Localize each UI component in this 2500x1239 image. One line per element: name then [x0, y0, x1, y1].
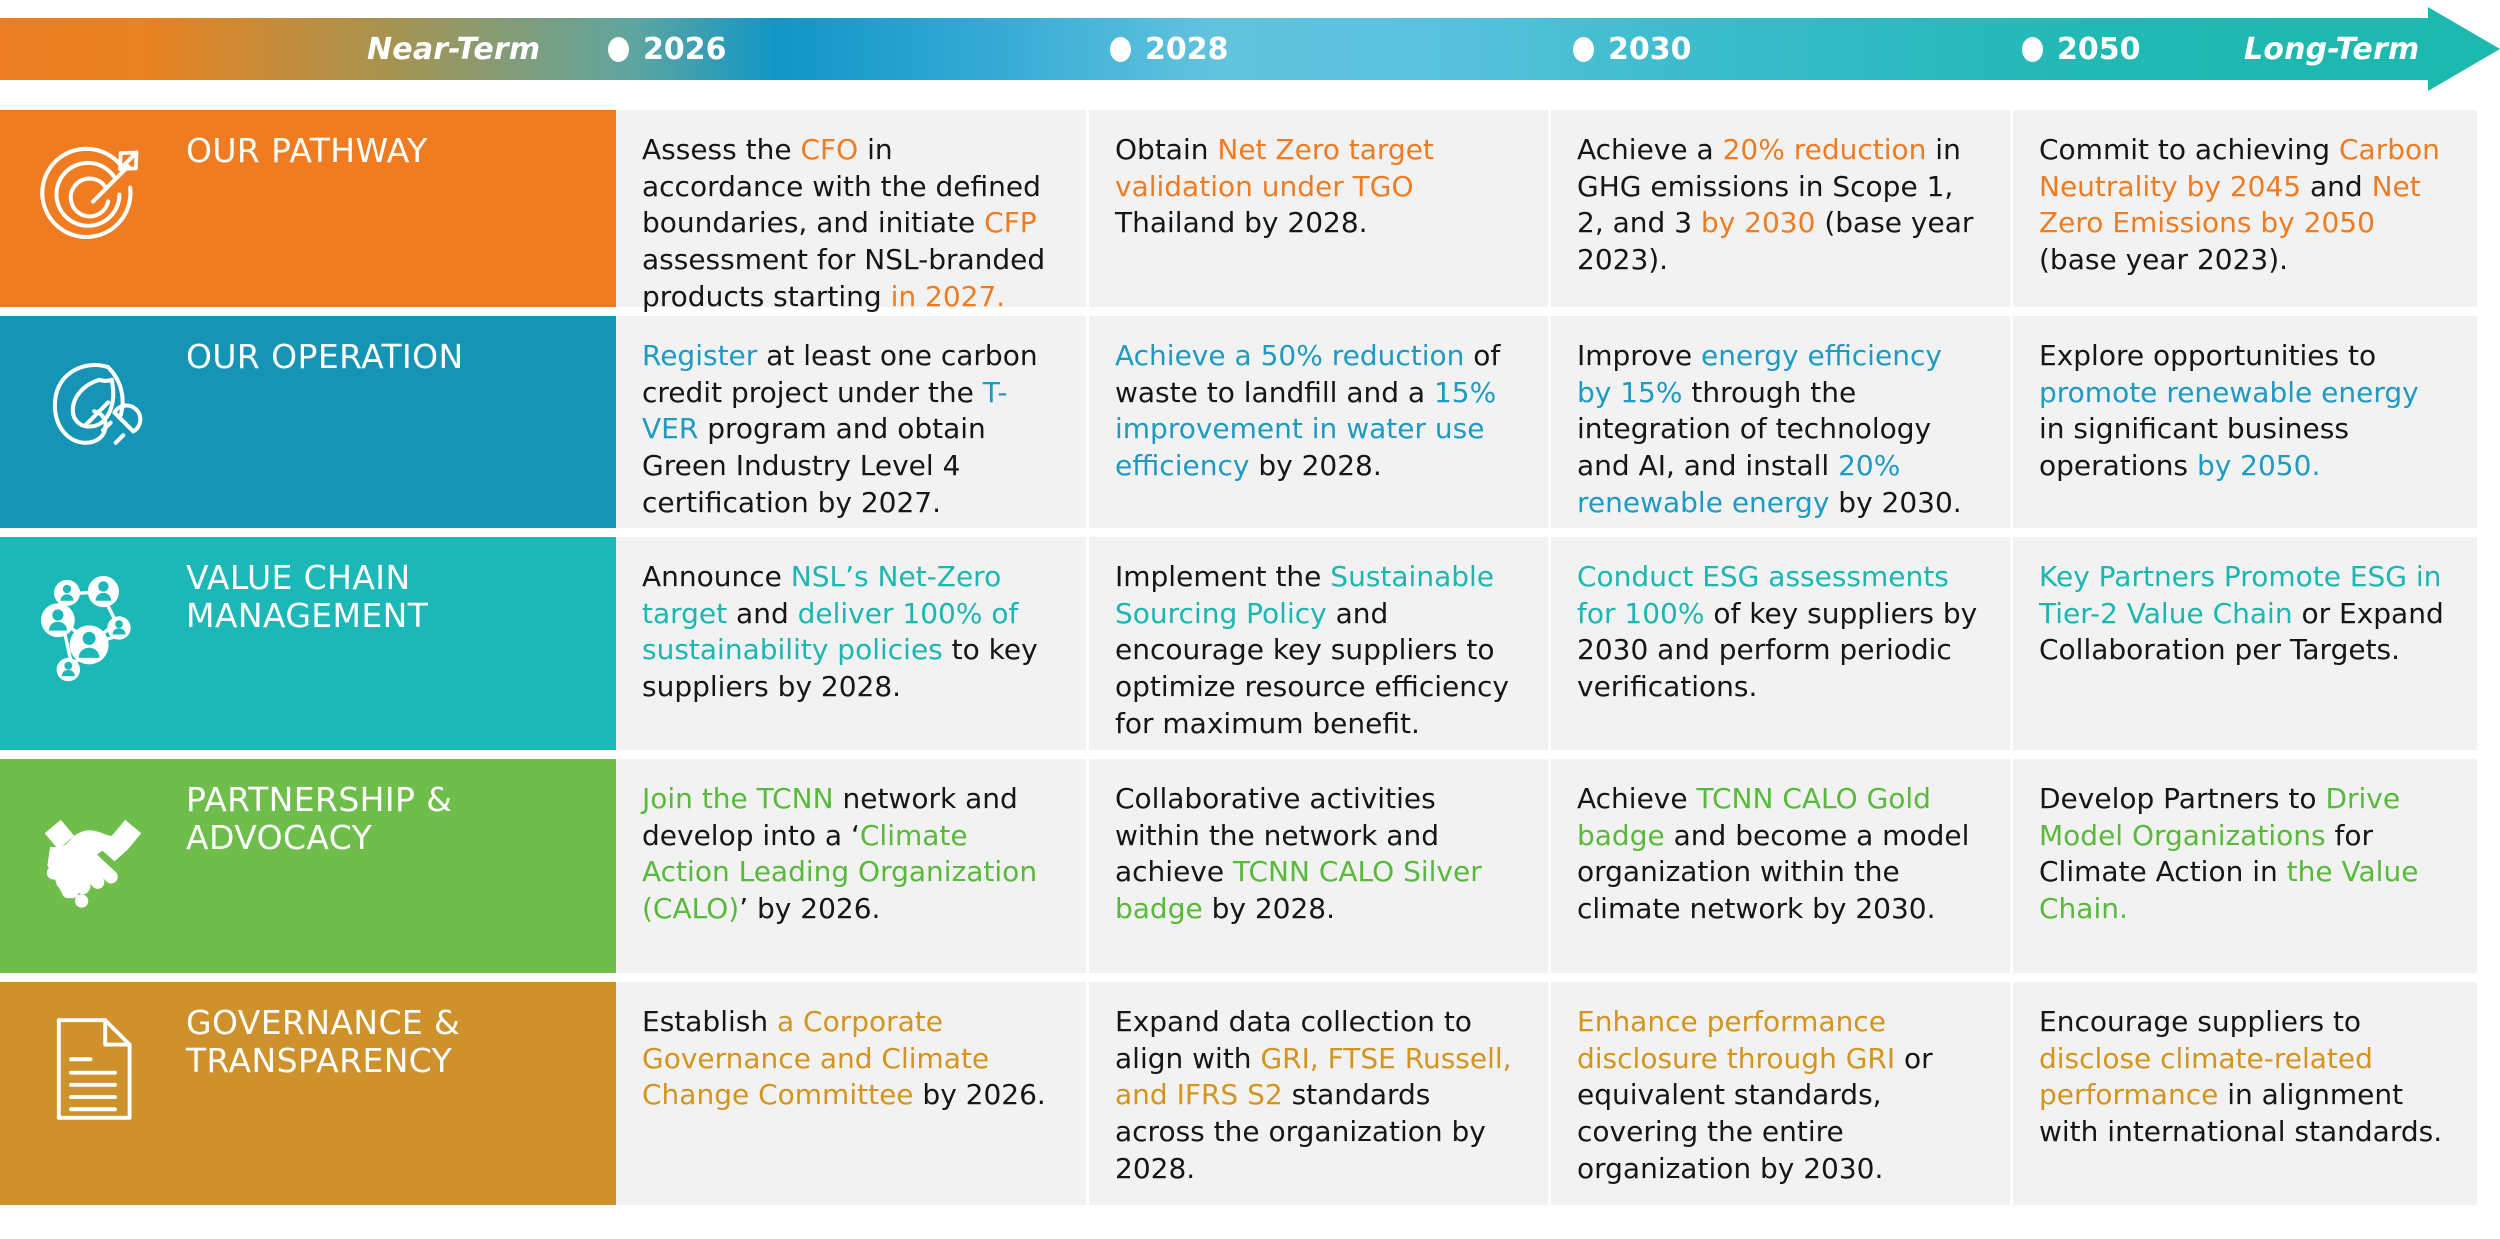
- cell-our-pathway-2050: Commit to achieving Carbon Neutrality by…: [2010, 110, 2477, 307]
- body-text: Explore opportunities to: [2039, 339, 2376, 372]
- category-band-partnership-advocacy: PARTNERSHIP & ADVOCACY: [0, 759, 616, 973]
- milestone-dot-icon: [1573, 37, 1594, 62]
- milestone-dot-icon: [1110, 37, 1131, 62]
- leaf-plug-icon: [0, 316, 186, 468]
- cell-value-chain-management-2050: Key Partners Promote ESG in Tier-2 Value…: [2010, 537, 2477, 750]
- category-title: VALUE CHAIN MANAGEMENT: [186, 537, 428, 634]
- timeline-header: Near-Term 2026 2028 2030 2050 Long-Term: [0, 18, 2500, 80]
- row-cells: Assess the CFO in accordance with the de…: [616, 110, 2500, 307]
- cell-governance-transparency-2030: Enhance performance disclosure through G…: [1548, 982, 2010, 1205]
- body-text: Thailand by 2028.: [1115, 206, 1368, 239]
- cell-our-pathway-2026: Assess the CFO in accordance with the de…: [616, 110, 1086, 307]
- roadmap-grid: OUR PATHWAYAssess the CFO in accordance …: [0, 110, 2500, 1214]
- timeline-near-term-label: Near-Term: [367, 18, 540, 80]
- roadmap-row: VALUE CHAIN MANAGEMENTAnnounce NSL’s Net…: [0, 537, 2500, 750]
- cell-our-operation-2026: Register at least one carbon credit proj…: [616, 316, 1086, 528]
- category-title: GOVERNANCE & TRANSPARENCY: [186, 982, 460, 1079]
- cell-partnership-advocacy-2050: Develop Partners to Drive Model Organiza…: [2010, 759, 2477, 973]
- highlight-text: CFP: [984, 206, 1037, 239]
- milestone-year-label: 2028: [1145, 32, 1229, 67]
- highlight-text: Register: [642, 339, 757, 372]
- row-cells: Establish a Corporate Governance and Cli…: [616, 982, 2500, 1205]
- milestone-year-label: 2030: [1608, 32, 1692, 67]
- body-text: Improve: [1577, 339, 1701, 372]
- category-band-our-operation: OUR OPERATION: [0, 316, 616, 528]
- highlight-text: in 2027.: [891, 280, 1006, 313]
- milestone-dot-icon: [2022, 37, 2043, 62]
- highlight-text: promote renewable energy: [2039, 376, 2419, 409]
- timeline-arrowhead-icon: [2428, 7, 2500, 91]
- highlight-text: 20% reduction: [1723, 133, 1927, 166]
- timeline-milestone-2030: 2030: [1573, 18, 1692, 80]
- timeline-milestone-2026: 2026: [608, 18, 727, 80]
- highlight-text: Achieve a 50% reduction: [1115, 339, 1464, 372]
- handshake-icon: [0, 759, 186, 919]
- cell-our-operation-2050: Explore opportunities to promote renewab…: [2010, 316, 2477, 528]
- cell-governance-transparency-2028: Expand data collection to align with GRI…: [1086, 982, 1548, 1205]
- timeline-long-term-label: Long-Term: [2244, 18, 2419, 80]
- body-text: and: [727, 597, 797, 630]
- roadmap-row: GOVERNANCE & TRANSPARENCYEstablish a Cor…: [0, 982, 2500, 1205]
- highlight-text: by 2030: [1701, 206, 1816, 239]
- roadmap-infographic: Near-Term 2026 2028 2030 2050 Long-Term …: [0, 0, 2500, 1239]
- body-text: and: [2301, 170, 2371, 203]
- category-band-value-chain-management: VALUE CHAIN MANAGEMENT: [0, 537, 616, 750]
- cell-partnership-advocacy-2026: Join the TCNN network and develop into a…: [616, 759, 1086, 973]
- target-arrow-icon: [0, 110, 186, 262]
- category-title: PARTNERSHIP & ADVOCACY: [186, 759, 452, 856]
- highlight-text: Join the TCNN: [642, 782, 834, 815]
- milestone-year-label: 2026: [643, 32, 727, 67]
- cell-value-chain-management-2026: Announce NSL’s Net-Zero target and deliv…: [616, 537, 1086, 750]
- cell-value-chain-management-2028: Implement the Sustainable Sourcing Polic…: [1086, 537, 1548, 750]
- body-text: (base year 2023).: [2039, 243, 2288, 276]
- body-text: by 2030.: [1829, 486, 1961, 519]
- document-lines-icon: [0, 982, 186, 1130]
- body-text: Commit to achieving: [2039, 133, 2339, 166]
- category-band-governance-transparency: GOVERNANCE & TRANSPARENCY: [0, 982, 616, 1205]
- body-text: Achieve: [1577, 782, 1697, 815]
- body-text: by 2026.: [914, 1078, 1046, 1111]
- roadmap-row: OUR PATHWAYAssess the CFO in accordance …: [0, 110, 2500, 307]
- roadmap-row: OUR OPERATIONRegister at least one carbo…: [0, 316, 2500, 528]
- category-band-our-pathway: OUR PATHWAY: [0, 110, 616, 307]
- highlight-text: by 2050.: [2197, 449, 2320, 482]
- cell-our-operation-2030: Improve energy efficiency by 15% through…: [1548, 316, 2010, 528]
- body-text: Assess the: [642, 133, 800, 166]
- body-text: Establish: [642, 1005, 777, 1038]
- highlight-text: Enhance performance disclosure through G…: [1577, 1005, 1895, 1075]
- highlight-text: CFO: [800, 133, 858, 166]
- timeline-milestone-2028: 2028: [1110, 18, 1229, 80]
- milestone-year-label: 2050: [2057, 32, 2141, 67]
- body-text: by 2028.: [1249, 449, 1381, 482]
- cell-partnership-advocacy-2028: Collaborative activities within the netw…: [1086, 759, 1548, 973]
- cell-partnership-advocacy-2030: Achieve TCNN CALO Gold badge and become …: [1548, 759, 2010, 973]
- cell-our-pathway-2030: Achieve a 20% reduction in GHG emissions…: [1548, 110, 2010, 307]
- roadmap-row: PARTNERSHIP & ADVOCACYJoin the TCNN netw…: [0, 759, 2500, 973]
- body-text: Announce: [642, 560, 791, 593]
- row-cells: Join the TCNN network and develop into a…: [616, 759, 2500, 973]
- people-network-icon: [0, 537, 186, 693]
- body-text: by 2028.: [1203, 892, 1335, 925]
- cell-governance-transparency-2026: Establish a Corporate Governance and Cli…: [616, 982, 1086, 1205]
- cell-our-operation-2028: Achieve a 50% reduction of waste to land…: [1086, 316, 1548, 528]
- body-text: Develop Partners to: [2039, 782, 2325, 815]
- row-cells: Announce NSL’s Net-Zero target and deliv…: [616, 537, 2500, 750]
- body-text: Achieve a: [1577, 133, 1723, 166]
- cell-our-pathway-2028: Obtain Net Zero target validation under …: [1086, 110, 1548, 307]
- body-text: ’ by 2026.: [739, 892, 880, 925]
- category-title: OUR PATHWAY: [186, 110, 428, 170]
- body-text: Encourage suppliers to: [2039, 1005, 2361, 1038]
- category-title: OUR OPERATION: [186, 316, 464, 376]
- body-text: Obtain: [1115, 133, 1217, 166]
- cell-value-chain-management-2030: Conduct ESG assessments for 100% of key …: [1548, 537, 2010, 750]
- cell-governance-transparency-2050: Encourage suppliers to disclose climate-…: [2010, 982, 2477, 1205]
- milestone-dot-icon: [608, 37, 629, 62]
- body-text: Implement the: [1115, 560, 1330, 593]
- timeline-milestone-2050: 2050: [2022, 18, 2141, 80]
- row-cells: Register at least one carbon credit proj…: [616, 316, 2500, 528]
